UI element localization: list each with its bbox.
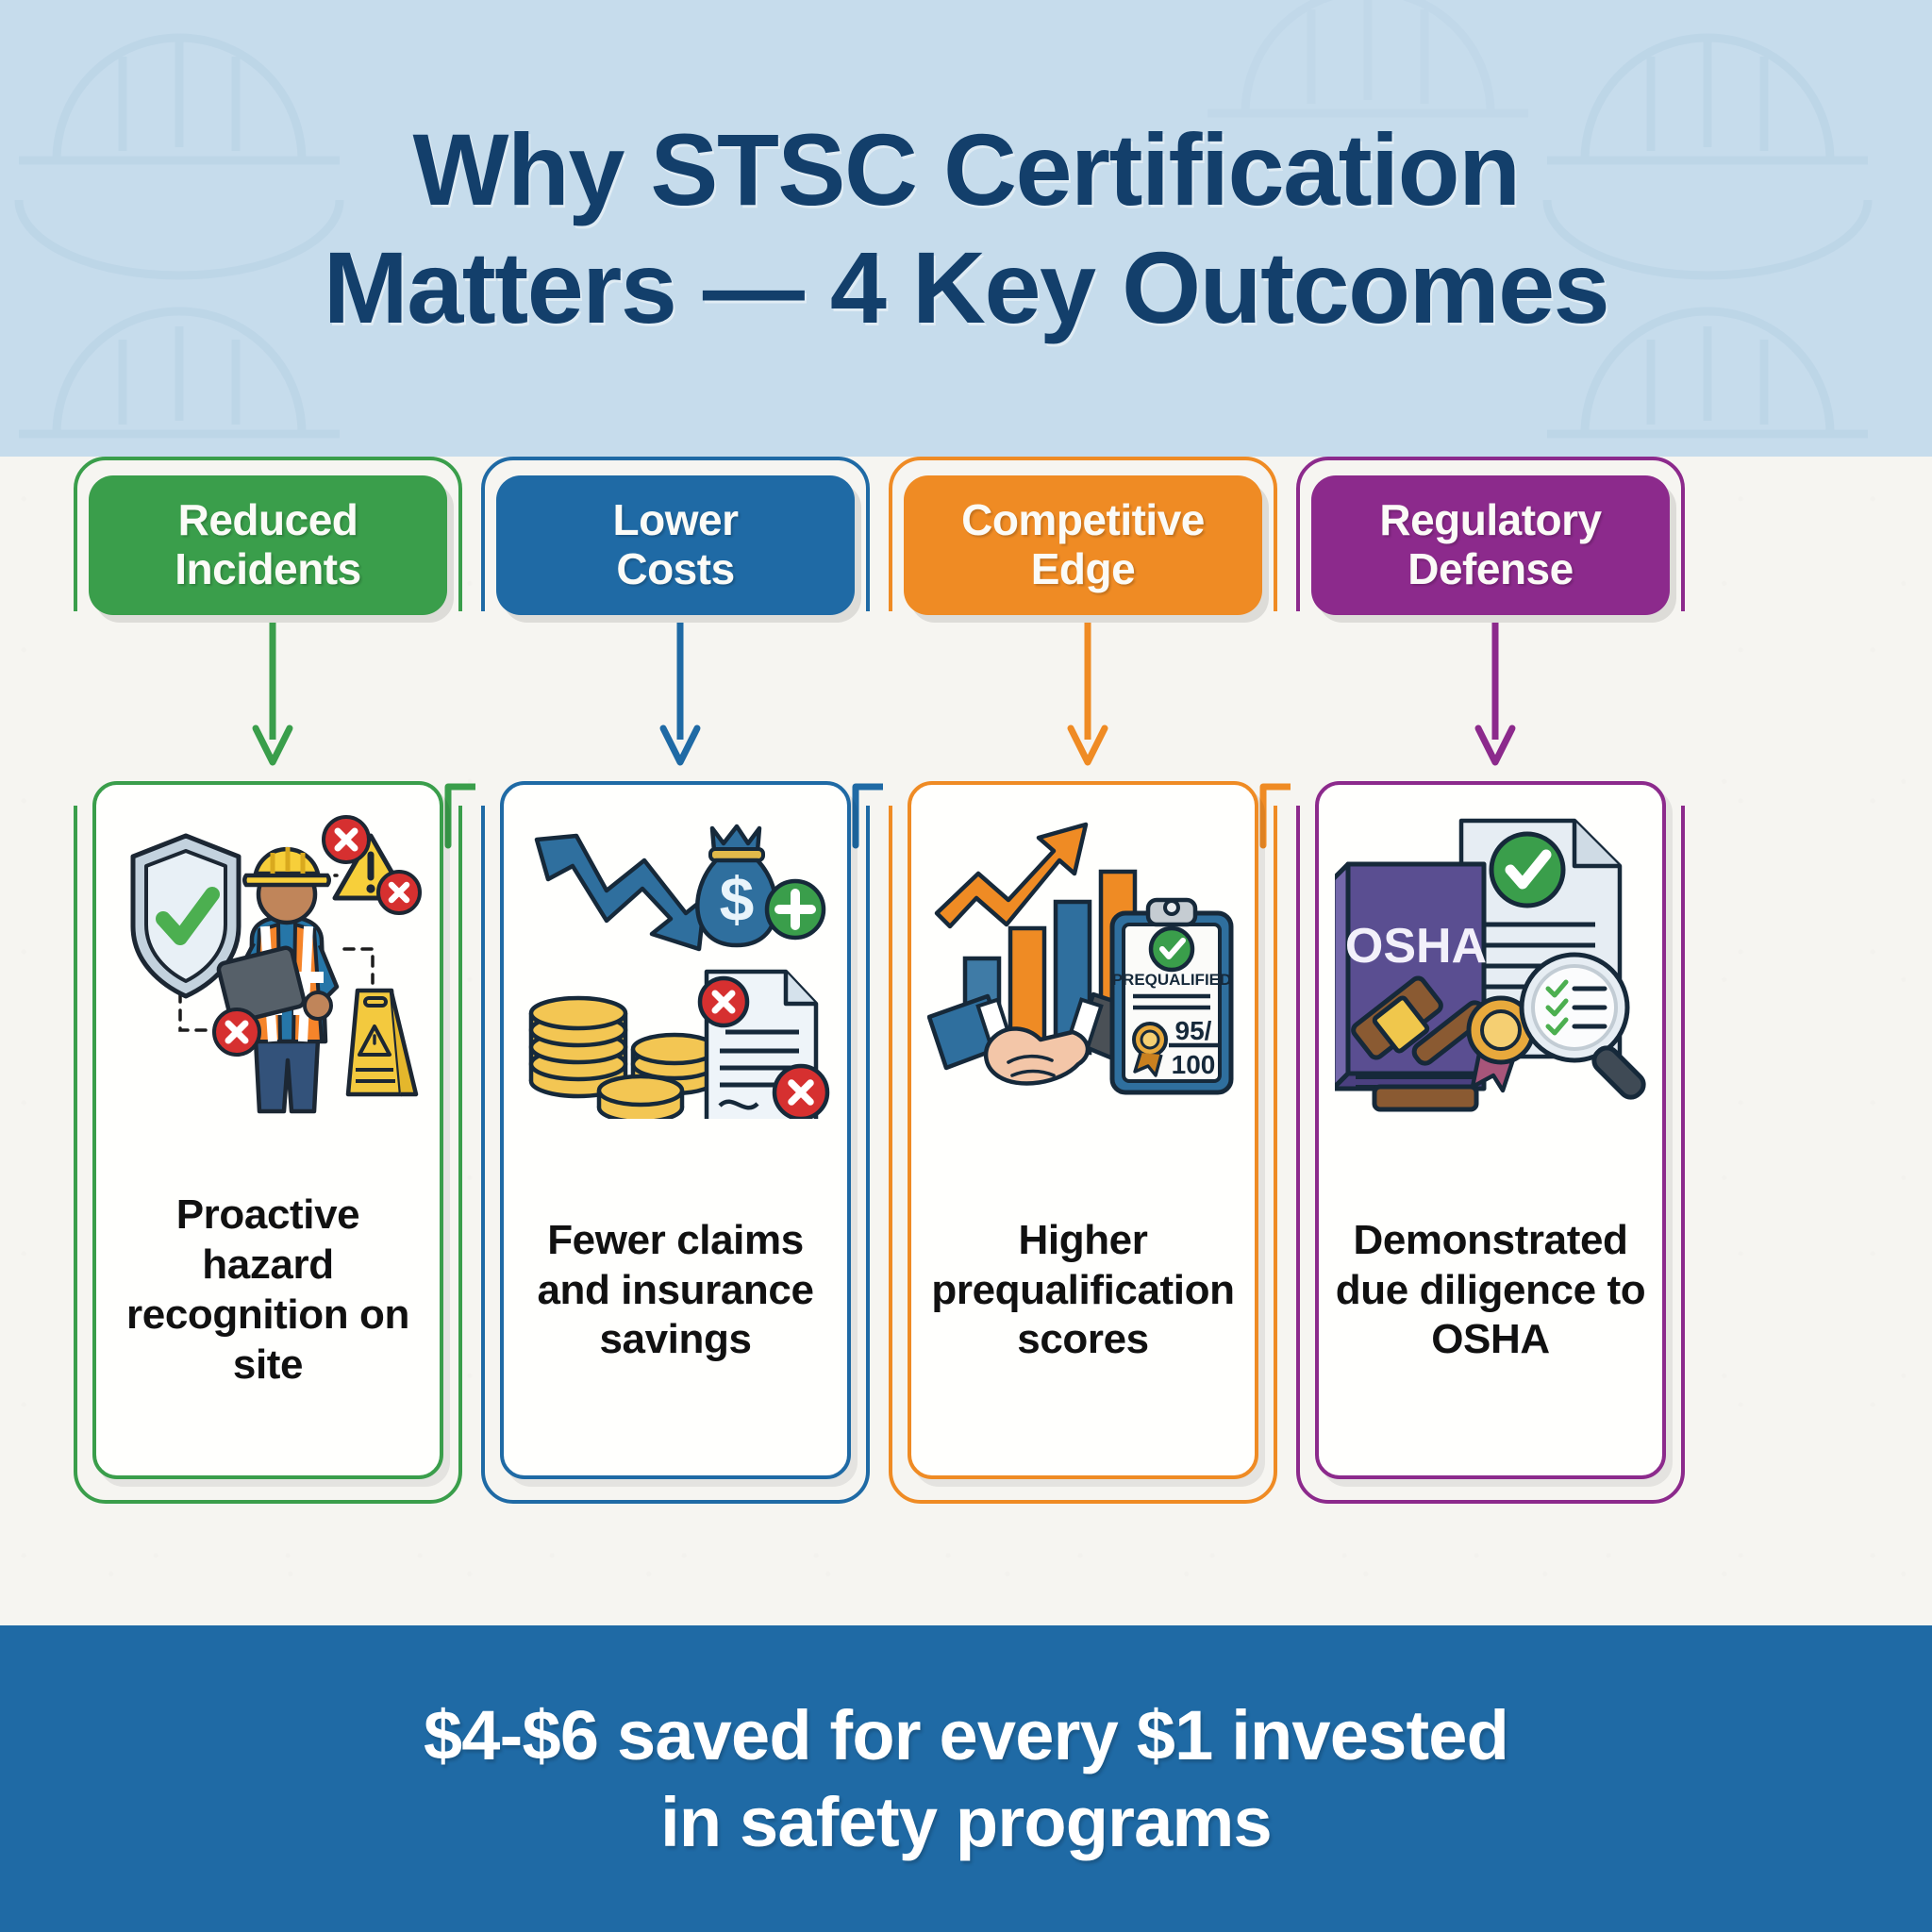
illustration-coins-money-bag-down-arrow: $: [520, 808, 831, 1119]
card-header-pill[interactable]: Reduced Incidents: [89, 475, 447, 615]
clipboard-score-numerator: 95/: [1175, 1016, 1212, 1045]
illustration-osha-book-gavel-certificate: OSHA: [1335, 808, 1646, 1119]
card-body: OSHA: [1315, 781, 1666, 1479]
clipboard-score-denominator: 100: [1172, 1050, 1216, 1079]
card-header-line-2: Defense: [1407, 544, 1573, 593]
card-caption: Proactive hazard recognition on site: [111, 1126, 425, 1455]
page-title-line-1: Why STSC Certification: [412, 110, 1519, 228]
outcome-card-competitive-edge[interactable]: Competitive Edge: [875, 457, 1291, 1625]
illustration-handshake-growth-chart-clipboard: PREQUALIFIED 95/ 100: [927, 808, 1239, 1119]
clipboard-status-label: PREQUALIFIED: [1112, 971, 1232, 989]
arrow-down-icon: [652, 619, 708, 775]
page-title: Why STSC Certification Matters — 4 Key O…: [0, 0, 1932, 457]
card-caption: Higher prequalification scores: [926, 1126, 1240, 1455]
card-header-line-2: Incidents: [175, 544, 360, 593]
header-banner: Why STSC Certification Matters — 4 Key O…: [0, 0, 1932, 457]
card-header-pill[interactable]: Lower Costs: [496, 475, 855, 615]
infographic-page: Why STSC Certification Matters — 4 Key O…: [0, 0, 1932, 1932]
outcome-card-reduced-incidents[interactable]: Reduced Incidents: [60, 457, 475, 1625]
illustration-shield-check-worker-hazards: [112, 808, 424, 1119]
arrow-down-icon: [1467, 619, 1524, 775]
card-body: Proactive hazard recognition on site: [92, 781, 443, 1479]
page-title-line-2: Matters — 4 Key Outcomes: [324, 228, 1608, 346]
footer-line-1: $4-$6 saved for every $1 invested: [424, 1692, 1508, 1779]
card-header-line-2: Costs: [616, 544, 734, 593]
card-body: PREQUALIFIED 95/ 100: [908, 781, 1258, 1479]
osha-book-label: OSHA: [1345, 919, 1487, 974]
card-header-pill[interactable]: Regulatory Defense: [1311, 475, 1670, 615]
card-header-label: Competitive Edge: [961, 496, 1205, 593]
card-header-line-1: Competitive: [961, 495, 1205, 544]
card-body: $: [500, 781, 851, 1479]
arrow-down-icon: [1059, 619, 1116, 775]
footer-line-2: in safety programs: [660, 1779, 1272, 1866]
outcome-card-regulatory-defense[interactable]: Regulatory Defense: [1283, 457, 1698, 1625]
footer-banner: $4-$6 saved for every $1 invested in saf…: [0, 1625, 1932, 1932]
outcome-card-lower-costs[interactable]: Lower Costs: [468, 457, 883, 1625]
outcome-card-list: Reduced Incidents: [0, 457, 1932, 1625]
card-header-line-1: Regulatory: [1379, 495, 1601, 544]
card-header-label: Reduced Incidents: [175, 496, 360, 593]
card-header-line-2: Edge: [1031, 544, 1135, 593]
red-x-badge: [324, 817, 369, 862]
card-header-label: Regulatory Defense: [1379, 496, 1601, 593]
card-header-label: Lower Costs: [613, 496, 739, 593]
card-header-line-1: Lower: [613, 495, 739, 544]
arrow-down-icon: [244, 619, 301, 775]
card-header-pill[interactable]: Competitive Edge: [904, 475, 1262, 615]
card-caption: Demonstrated due diligence to OSHA: [1334, 1126, 1647, 1455]
outcomes-section: Reduced Incidents: [0, 457, 1932, 1625]
card-header-line-1: Reduced: [178, 495, 358, 544]
card-caption: Fewer claims and insurance savings: [519, 1126, 832, 1455]
svg-text:$: $: [720, 864, 755, 934]
